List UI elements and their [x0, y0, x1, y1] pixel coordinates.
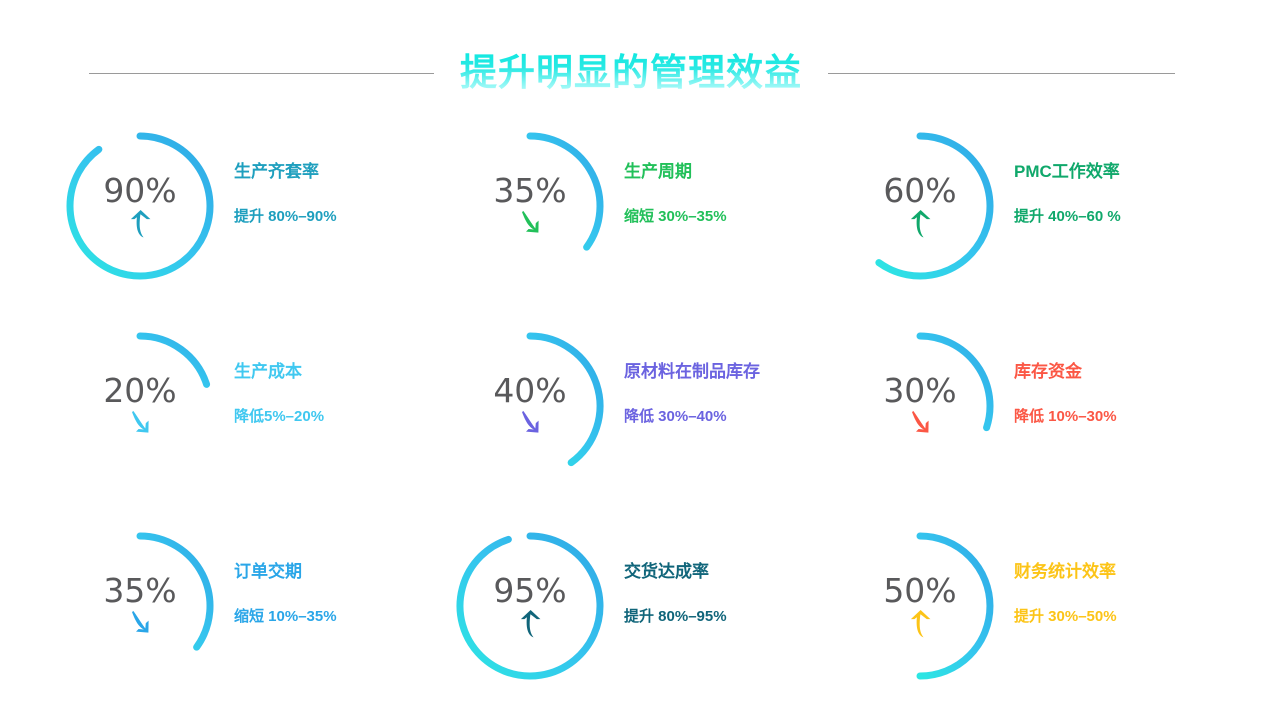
- gauge-value: 35%: [456, 174, 604, 207]
- metric-title: 原材料在制品库存: [624, 362, 844, 382]
- metric-title: 库存资金: [1014, 362, 1234, 382]
- metric-subtitle: 降低 10%–30%: [1014, 408, 1234, 426]
- page-title: 提升明显的管理效益: [460, 53, 802, 94]
- metric-subtitle: 降低5%–20%: [234, 408, 454, 426]
- progress-ring: 90%: [66, 118, 226, 294]
- title-rule-right: [828, 73, 1175, 74]
- arrow-down-icon: [66, 610, 214, 644]
- metric-text-block: 财务统计效率提升 30%–50%: [1014, 518, 1234, 626]
- metric-title: 生产周期: [624, 162, 844, 182]
- metric-card: 20%生产成本降低5%–20%: [66, 318, 456, 518]
- progress-ring: 60%: [846, 118, 1006, 294]
- metric-title: 财务统计效率: [1014, 562, 1234, 582]
- metric-card: 35%生产周期缩短 30%–35%: [456, 118, 846, 318]
- gauge-value: 40%: [456, 374, 604, 407]
- metric-card: 90%生产齐套率提升 80%–90%: [66, 118, 456, 318]
- metric-text-block: 原材料在制品库存降低 30%–40%: [624, 318, 844, 426]
- metric-card: 35%订单交期缩短 10%–35%: [66, 518, 456, 718]
- metric-title: PMC工作效率: [1014, 162, 1234, 182]
- metric-subtitle: 提升 80%–95%: [624, 608, 844, 626]
- metric-title: 生产成本: [234, 362, 454, 382]
- arrow-up-icon: [66, 210, 214, 244]
- arrow-down-icon: [846, 410, 994, 444]
- metrics-grid: 90%生产齐套率提升 80%–90%35%生产周期缩短 30%–35%60%PM…: [66, 118, 1226, 718]
- progress-ring: 20%: [66, 318, 226, 494]
- metric-text-block: PMC工作效率提升 40%–60 %: [1014, 118, 1234, 226]
- gauge-value: 90%: [66, 174, 214, 207]
- metric-card: 60%PMC工作效率提升 40%–60 %: [846, 118, 1236, 318]
- metric-text-block: 生产周期缩短 30%–35%: [624, 118, 844, 226]
- metric-card: 40%原材料在制品库存降低 30%–40%: [456, 318, 846, 518]
- arrow-up-icon: [846, 610, 994, 644]
- metric-subtitle: 缩短 30%–35%: [624, 208, 844, 226]
- progress-ring: 50%: [846, 518, 1006, 694]
- metric-card: 95%交货达成率提升 80%–95%: [456, 518, 846, 718]
- page-header: 提升明显的管理效益: [0, 42, 1264, 104]
- metric-text-block: 交货达成率提升 80%–95%: [624, 518, 844, 626]
- metric-subtitle: 提升 40%–60 %: [1014, 208, 1234, 226]
- metric-card: 30%库存资金降低 10%–30%: [846, 318, 1236, 518]
- metric-text-block: 生产成本降低5%–20%: [234, 318, 454, 426]
- gauge-value: 50%: [846, 574, 994, 607]
- arrow-up-icon: [456, 610, 604, 644]
- metric-subtitle: 提升 80%–90%: [234, 208, 454, 226]
- gauge-value: 60%: [846, 174, 994, 207]
- gauge-value: 95%: [456, 574, 604, 607]
- arrow-down-icon: [66, 410, 214, 444]
- progress-ring: 35%: [456, 118, 616, 294]
- metric-title: 订单交期: [234, 562, 454, 582]
- metric-text-block: 生产齐套率提升 80%–90%: [234, 118, 454, 226]
- gauge-value: 20%: [66, 374, 214, 407]
- progress-ring: 95%: [456, 518, 616, 694]
- arrow-up-icon: [846, 210, 994, 244]
- arrow-down-icon: [456, 210, 604, 244]
- gauge-value: 35%: [66, 574, 214, 607]
- metric-subtitle: 缩短 10%–35%: [234, 608, 454, 626]
- metric-subtitle: 降低 30%–40%: [624, 408, 844, 426]
- metric-text-block: 库存资金降低 10%–30%: [1014, 318, 1234, 426]
- progress-ring: 30%: [846, 318, 1006, 494]
- metric-title: 生产齐套率: [234, 162, 454, 182]
- gauge-value: 30%: [846, 374, 994, 407]
- metric-subtitle: 提升 30%–50%: [1014, 608, 1234, 626]
- metric-title: 交货达成率: [624, 562, 844, 582]
- metric-text-block: 订单交期缩短 10%–35%: [234, 518, 454, 626]
- progress-ring: 35%: [66, 518, 226, 694]
- metric-card: 50%财务统计效率提升 30%–50%: [846, 518, 1236, 718]
- title-rule-left: [89, 73, 434, 74]
- arrow-down-icon: [456, 410, 604, 444]
- progress-ring: 40%: [456, 318, 616, 494]
